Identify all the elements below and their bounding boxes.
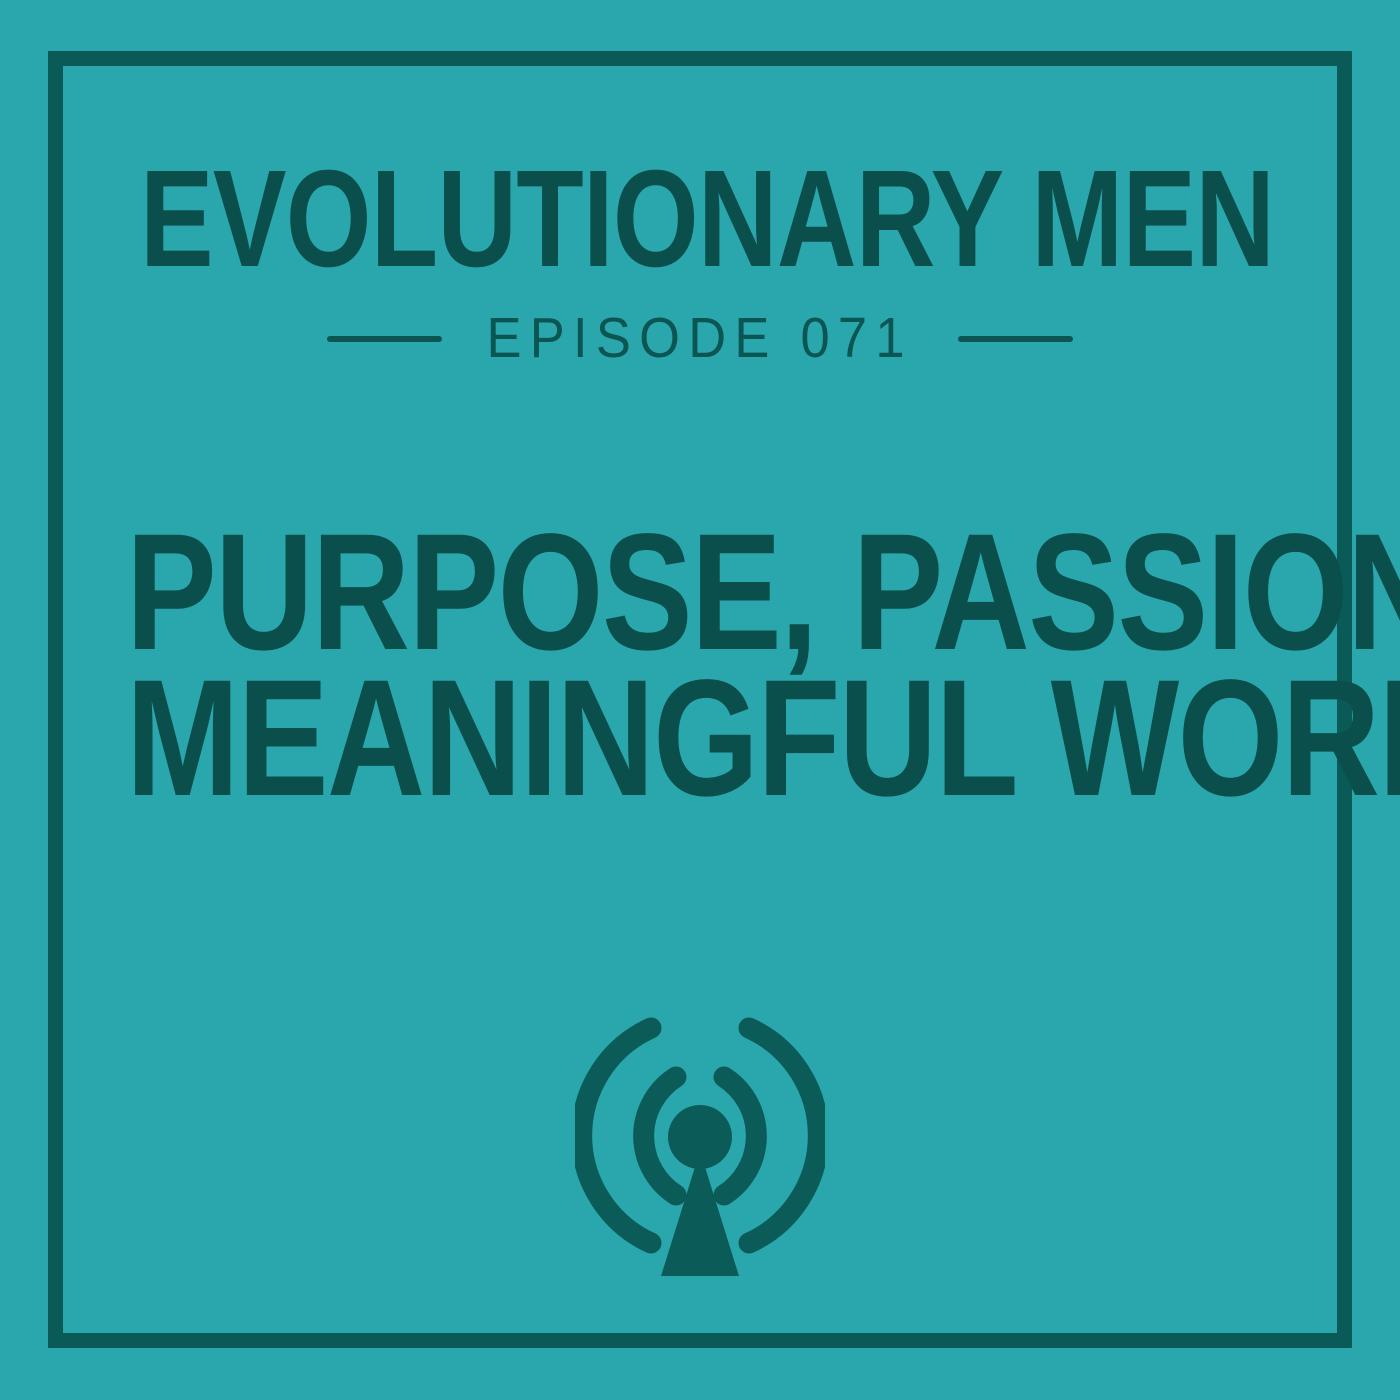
podcast-cover-art: EVOLUTIONARY MEN EPISODE 071 PURPOSE, PA… xyxy=(0,0,1400,1400)
episode-title: PURPOSE, PASSION, AND MEANINGFUL WORK xyxy=(0,520,1400,812)
episode-number-label: EPISODE 071 xyxy=(487,310,913,367)
show-header: EVOLUTIONARY MEN EPISODE 071 xyxy=(0,150,1400,367)
episode-title-line-2: MEANINGFUL WORK xyxy=(126,666,1274,812)
rule-left-icon xyxy=(327,336,442,342)
episode-title-line-1: PURPOSE, PASSION, AND xyxy=(126,520,1274,666)
episode-number-row: EPISODE 071 xyxy=(0,310,1400,367)
rule-right-icon xyxy=(958,336,1073,342)
broadcast-antenna-icon xyxy=(575,1015,825,1290)
show-title: EVOLUTIONARY MEN xyxy=(140,150,1260,288)
broadcast-antenna-glyph xyxy=(575,1015,825,1290)
